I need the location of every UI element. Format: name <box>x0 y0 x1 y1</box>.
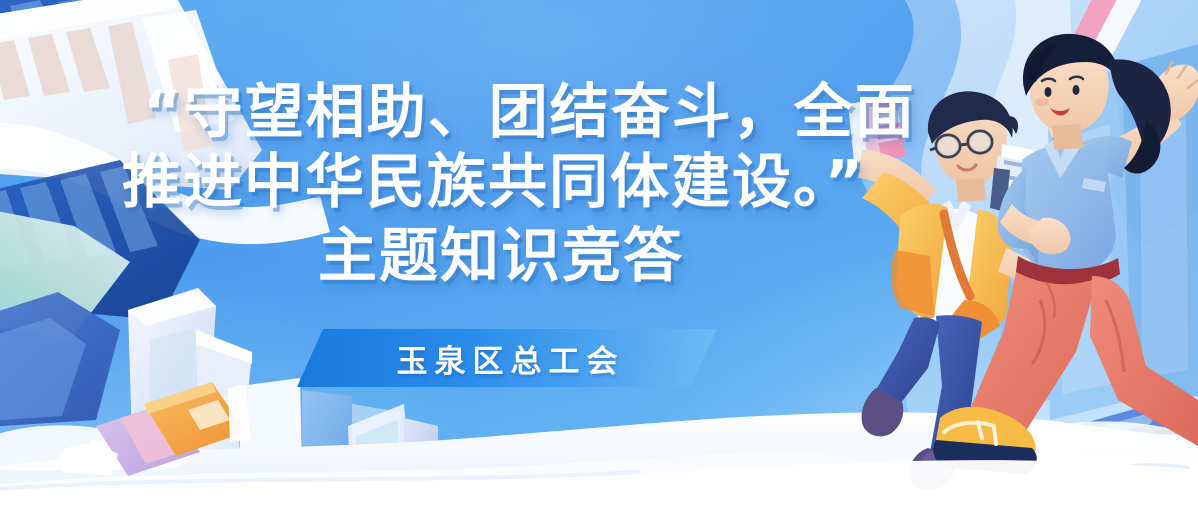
organization-label: 玉泉区总工会 <box>297 329 717 387</box>
knowledge-quiz-poster: “守望相助、团结奋斗，全面 推进中华民族共同体建设。” 主题知识竞答 玉泉区总工… <box>0 0 1198 506</box>
organization-ribbon: 玉泉区总工会 <box>297 329 717 387</box>
foreground-snow-overlay <box>0 0 1198 506</box>
